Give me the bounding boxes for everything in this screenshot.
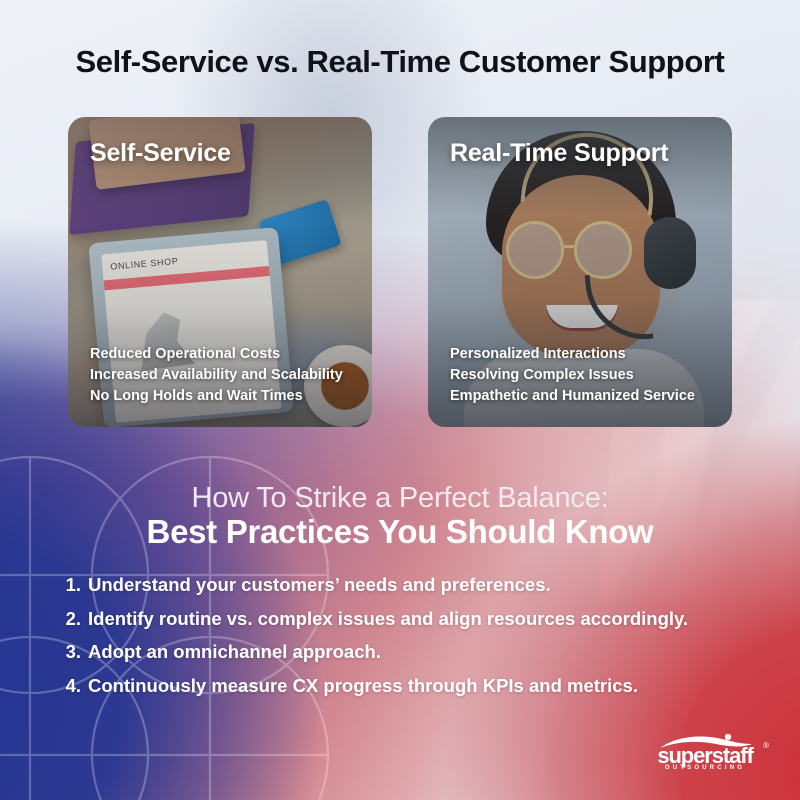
benefit-item: Resolving Complex Issues bbox=[450, 365, 718, 386]
infographic-canvas: Self-Service vs. Real-Time Customer Supp… bbox=[0, 0, 800, 800]
list-item-text: Understand your customers’ needs and pre… bbox=[88, 576, 551, 595]
card-real-time-support[interactable]: Real-Time Support Personalized Interacti… bbox=[428, 117, 732, 427]
logo-trademark: ® bbox=[763, 741, 769, 750]
section-eyebrow: How To Strike a Perfect Balance: bbox=[0, 482, 800, 515]
list-item-number: 2. bbox=[62, 610, 81, 629]
benefit-item: No Long Holds and Wait Times bbox=[90, 386, 358, 407]
logo-tagline: OUTSOURCING bbox=[640, 765, 770, 771]
list-item: 3. Adopt an omnichannel approach. bbox=[62, 643, 762, 662]
benefit-item: Personalized Interactions bbox=[450, 344, 718, 365]
page-title: Self-Service vs. Real-Time Customer Supp… bbox=[0, 44, 800, 80]
superstaff-logo[interactable]: superstaff ® OUTSOURCING bbox=[640, 735, 770, 777]
list-item: 2. Identify routine vs. complex issues a… bbox=[62, 610, 762, 629]
list-item: 4. Continuously measure CX progress thro… bbox=[62, 677, 762, 696]
card-title-real-time-support: Real-Time Support bbox=[450, 139, 716, 168]
list-item-number: 4. bbox=[62, 677, 81, 696]
card-self-service[interactable]: ONLINE SHOP Self-Service Reduced Operati… bbox=[68, 117, 372, 427]
list-item: 1. Understand your customers’ needs and … bbox=[62, 576, 762, 595]
list-item-text: Continuously measure CX progress through… bbox=[88, 677, 638, 696]
list-item-number: 1. bbox=[62, 576, 81, 595]
benefit-item: Increased Availability and Scalability bbox=[90, 365, 358, 386]
benefit-item: Reduced Operational Costs bbox=[90, 344, 358, 365]
list-item-text: Identify routine vs. complex issues and … bbox=[88, 610, 688, 629]
list-item-number: 3. bbox=[62, 643, 81, 662]
benefit-item: Empathetic and Humanized Service bbox=[450, 386, 718, 407]
card-title-self-service: Self-Service bbox=[90, 139, 356, 168]
card-benefits-self-service: Reduced Operational Costs Increased Avai… bbox=[90, 344, 358, 407]
list-item-text: Adopt an omnichannel approach. bbox=[88, 643, 381, 662]
card-benefits-real-time-support: Personalized Interactions Resolving Comp… bbox=[450, 344, 718, 407]
section-title: Best Practices You Should Know bbox=[0, 513, 800, 551]
best-practices-list: 1. Understand your customers’ needs and … bbox=[62, 576, 762, 710]
